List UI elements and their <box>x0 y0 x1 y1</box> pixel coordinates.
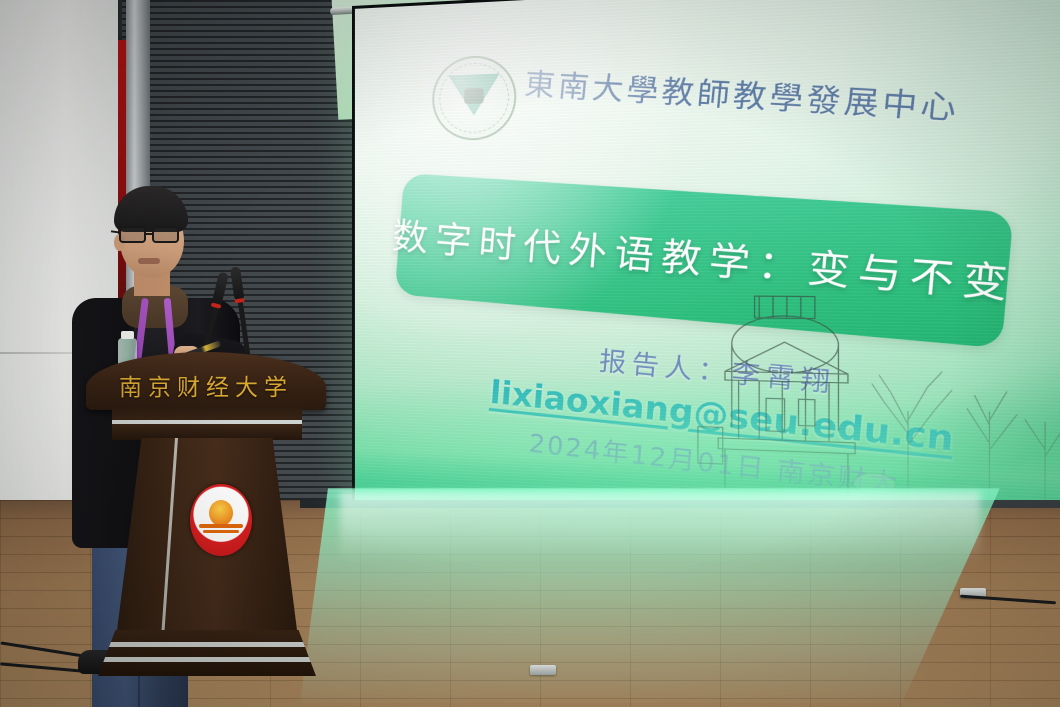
lectern-nameplate: 南京财经大学 <box>86 368 326 402</box>
screen-frame: 東南大學教師教學發展中心 数字时代外语教学：变与不变 报告人：李霄翔 lixia… <box>352 0 1060 544</box>
slide-org-header: 東南大學教師教學發展中心 <box>523 60 1058 135</box>
lectern: 南京财经大学 <box>86 352 326 682</box>
lectern-base <box>98 630 316 676</box>
eyeglasses-icon <box>119 226 187 243</box>
floor-socket <box>530 665 556 675</box>
lectern-top: 南京财经大学 <box>86 352 326 410</box>
lecture-hall-scene: 東南大學教師教學發展中心 数字时代外语教学：变与不变 报告人：李霄翔 lixia… <box>0 0 1060 707</box>
lectern-neck <box>112 406 302 440</box>
njue-seal-icon <box>190 484 252 556</box>
projection-screen: 東南大學教師教學發展中心 数字时代外语教学：变与不变 报告人：李霄翔 lixia… <box>352 6 994 506</box>
presentation-slide: 東南大學教師教學發展中心 数字时代外语教学：变与不变 报告人：李霄翔 lixia… <box>355 0 1060 540</box>
southeast-university-seal-icon <box>432 54 516 141</box>
slide-org-header-text: 東南大學教師教學發展中心 <box>523 66 962 127</box>
speaker-mouth <box>138 258 160 264</box>
floor-specular-reflection <box>340 492 980 562</box>
